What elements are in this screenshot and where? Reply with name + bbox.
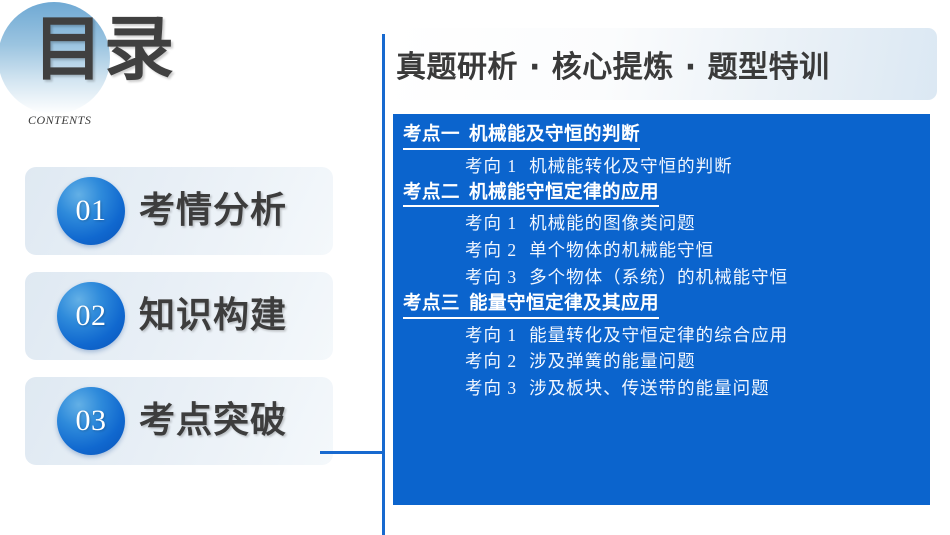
kaoxiang-number-3-1: 考向 1: [465, 325, 517, 345]
kaodian-title-1: 机械能及守恒的判断: [469, 124, 640, 145]
kaoxiang-text-2-2: 单个物体的机械能守恒: [529, 240, 714, 260]
agenda-label-1: 考情分析: [139, 193, 287, 229]
agenda-item-1[interactable]: 01 考情分析: [25, 167, 333, 255]
connector-vertical-line: [382, 34, 385, 535]
kaoxiang-number-2-3: 考向 3: [465, 267, 517, 287]
kaoxiang-item-2-1[interactable]: 考向 1机械能的图像类问题: [465, 210, 920, 237]
kaodian-number-1: 考点一: [403, 124, 460, 145]
kaodian-number-2: 考点二: [403, 182, 460, 203]
kaoxiang-number-2-1: 考向 1: [465, 213, 517, 233]
kaoxiang-text-3-3: 涉及板块、传送带的能量问题: [529, 378, 770, 398]
kaoxiang-number-1-1: 考向 1: [465, 156, 517, 176]
kaoxiang-item-2-2[interactable]: 考向 2单个物体的机械能守恒: [465, 237, 920, 264]
agenda-list: 01 考情分析 02 知识构建 03 考点突破: [25, 167, 333, 482]
agenda-number-badge-2: 02: [57, 282, 125, 350]
kaodian-title-2: 机械能守恒定律的应用: [469, 182, 659, 203]
section-header-title: 真题研析 · 核心提炼 · 题型特训: [396, 42, 830, 86]
page-title: 目录: [33, 14, 175, 84]
kaoxiang-text-1-1: 机械能转化及守恒的判断: [529, 156, 733, 176]
kaoxiang-number-3-3: 考向 3: [465, 378, 517, 398]
kaodian-title-3: 能量守恒定律及其应用: [469, 293, 659, 314]
agenda-label-2: 知识构建: [139, 298, 287, 334]
outline-group-1: 考点一机械能及守恒的判断 考向 1机械能转化及守恒的判断: [403, 123, 920, 179]
outline-group-3: 考点三能量守恒定律及其应用 考向 1能量转化及守恒定律的综合应用 考向 2涉及弹…: [403, 292, 920, 401]
kaoxiang-item-3-1[interactable]: 考向 1能量转化及守恒定律的综合应用: [465, 322, 920, 349]
agenda-item-2[interactable]: 02 知识构建: [25, 272, 333, 360]
kaodian-heading-1[interactable]: 考点一机械能及守恒的判断: [403, 123, 640, 150]
agenda-number-badge-3: 03: [57, 387, 125, 455]
slide-canvas: 目录 CONTENTS 01 考情分析 02 知识构建 03 考点突破 真题研析…: [0, 0, 950, 535]
agenda-label-3: 考点突破: [139, 403, 287, 439]
kaodian-heading-2[interactable]: 考点二机械能守恒定律的应用: [403, 181, 659, 208]
connector-horizontal-line: [320, 451, 384, 454]
kaoxiang-text-2-3: 多个物体（系统）的机械能守恒: [529, 267, 788, 287]
kaoxiang-item-2-3[interactable]: 考向 3多个物体（系统）的机械能守恒: [465, 264, 920, 291]
section-header-bar: 真题研析 · 核心提炼 · 题型特训: [391, 28, 937, 100]
agenda-number-badge-1: 01: [57, 177, 125, 245]
agenda-number-3: 03: [76, 404, 107, 438]
kaoxiang-item-3-3[interactable]: 考向 3涉及板块、传送带的能量问题: [465, 375, 920, 402]
kaodian-number-3: 考点三: [403, 293, 460, 314]
kaoxiang-text-2-1: 机械能的图像类问题: [529, 213, 696, 233]
kaoxiang-text-3-1: 能量转化及守恒定律的综合应用: [529, 325, 788, 345]
agenda-item-3[interactable]: 03 考点突破: [25, 377, 333, 465]
kaoxiang-item-1-1[interactable]: 考向 1机械能转化及守恒的判断: [465, 153, 920, 179]
page-subtitle: CONTENTS: [28, 113, 91, 128]
kaoxiang-number-2-2: 考向 2: [465, 240, 517, 260]
kaoxiang-text-3-2: 涉及弹簧的能量问题: [529, 351, 696, 371]
kaoxiang-number-3-2: 考向 2: [465, 351, 517, 371]
kaodian-heading-3[interactable]: 考点三能量守恒定律及其应用: [403, 292, 659, 319]
outline-group-2: 考点二机械能守恒定律的应用 考向 1机械能的图像类问题 考向 2单个物体的机械能…: [403, 181, 920, 290]
kaoxiang-item-3-2[interactable]: 考向 2涉及弹簧的能量问题: [465, 348, 920, 375]
agenda-number-1: 01: [76, 194, 107, 228]
agenda-number-2: 02: [76, 299, 107, 333]
outline-panel: 考点一机械能及守恒的判断 考向 1机械能转化及守恒的判断 考点二机械能守恒定律的…: [393, 114, 930, 505]
